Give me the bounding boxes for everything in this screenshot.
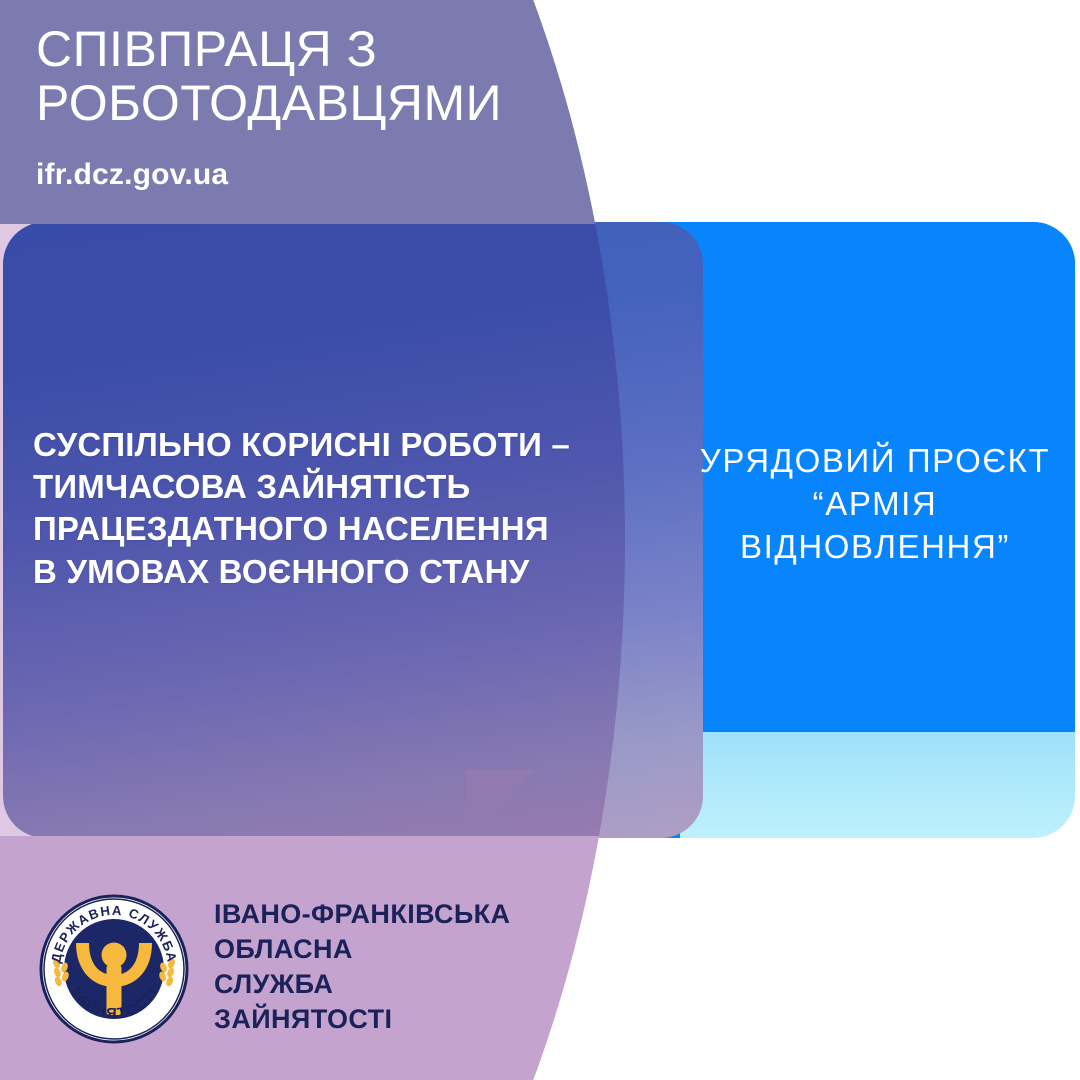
side-panel-text: УРЯДОВИЙ ПРОЄКТ “АРМІЯ ВІДНОВЛЕННЯ” bbox=[676, 440, 1074, 569]
footer: ДЕРЖАВНА СЛУЖБА ЗАЙНЯТОСТІ ІВАНО-ФРАНКІВ… bbox=[38, 893, 510, 1045]
state-employment-service-logo-icon: ДЕРЖАВНА СЛУЖБА ЗАЙНЯТОСТІ bbox=[38, 893, 190, 1045]
page-title: СПІВПРАЦЯ З РОБОТОДАВЦЯМИ bbox=[36, 22, 656, 130]
organization-name: ІВАНО-ФРАНКІВСЬКА ОБЛАСНА СЛУЖБА ЗАЙНЯТО… bbox=[214, 897, 510, 1041]
poster-canvas: СПІВПРАЦЯ З РОБОТОДАВЦЯМИ ifr.dcz.gov.ua… bbox=[0, 0, 1080, 1080]
header: СПІВПРАЦЯ З РОБОТОДАВЦЯМИ ifr.dcz.gov.ua bbox=[36, 22, 656, 192]
main-headline: СУСПІЛЬНО КОРИСНІ РОБОТИ – ТИМЧАСОВА ЗАЙ… bbox=[33, 424, 643, 593]
website-url[interactable]: ifr.dcz.gov.ua bbox=[36, 158, 656, 192]
